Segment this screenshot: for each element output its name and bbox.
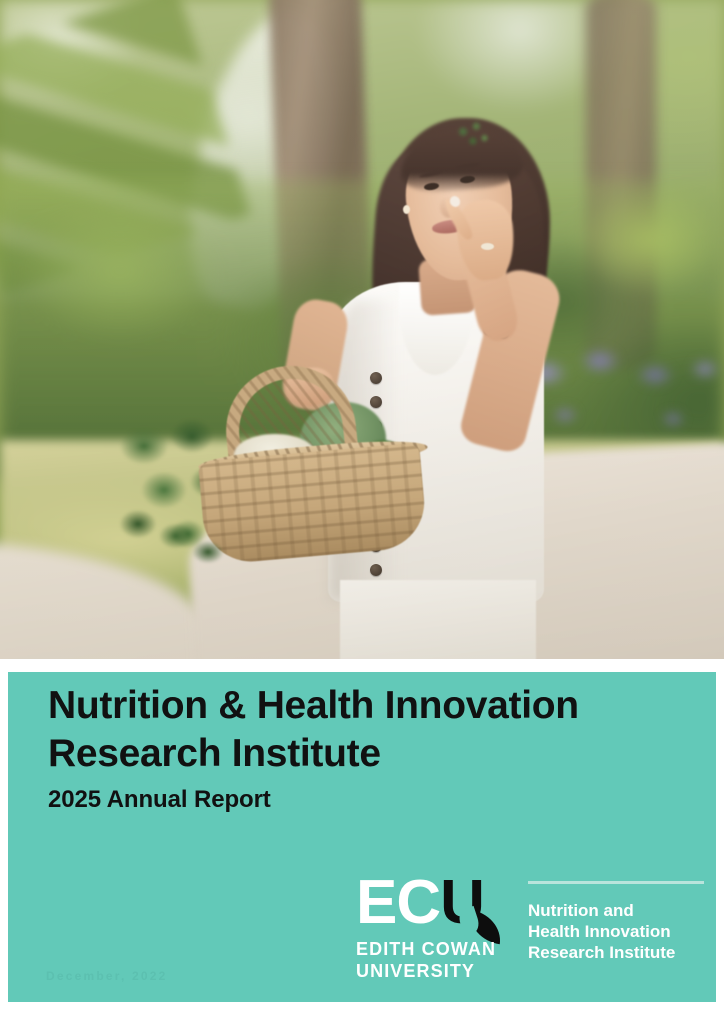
basket-weave-body bbox=[198, 443, 428, 566]
report-cover-page: Nutrition & Health InnovationResearch In… bbox=[0, 0, 724, 1024]
ecu-university-name: EDITH COWAN UNIVERSITY bbox=[356, 938, 496, 982]
teal-title-panel: Nutrition & Health InnovationResearch In… bbox=[8, 672, 716, 1002]
cover-photograph bbox=[0, 0, 724, 659]
report-subtitle: 2025 Annual Report bbox=[48, 786, 271, 814]
page-title: Nutrition & Health InnovationResearch In… bbox=[48, 682, 668, 778]
logo-lockup: ECU EDITH COWAN UNIVERSITY Nutrition and… bbox=[356, 872, 704, 990]
broccoli-floret-in-air bbox=[449, 115, 497, 158]
hanging-kale bbox=[152, 518, 228, 572]
institute-name: Nutrition and Health Innovation Research… bbox=[528, 900, 708, 963]
title-line-2: Research Institute bbox=[48, 732, 381, 775]
date-watermark: December, 2022 bbox=[46, 969, 168, 983]
wicker-vegetable-basket bbox=[118, 368, 386, 568]
lockup-divider-line bbox=[528, 881, 704, 884]
ecu-letters-ec: EC bbox=[356, 868, 440, 937]
ecu-logo-mark: ECU EDITH COWAN UNIVERSITY bbox=[356, 872, 508, 990]
earring bbox=[403, 205, 410, 214]
title-line-1: Nutrition & Health Innovation bbox=[48, 684, 579, 727]
finger-ring bbox=[481, 243, 494, 250]
